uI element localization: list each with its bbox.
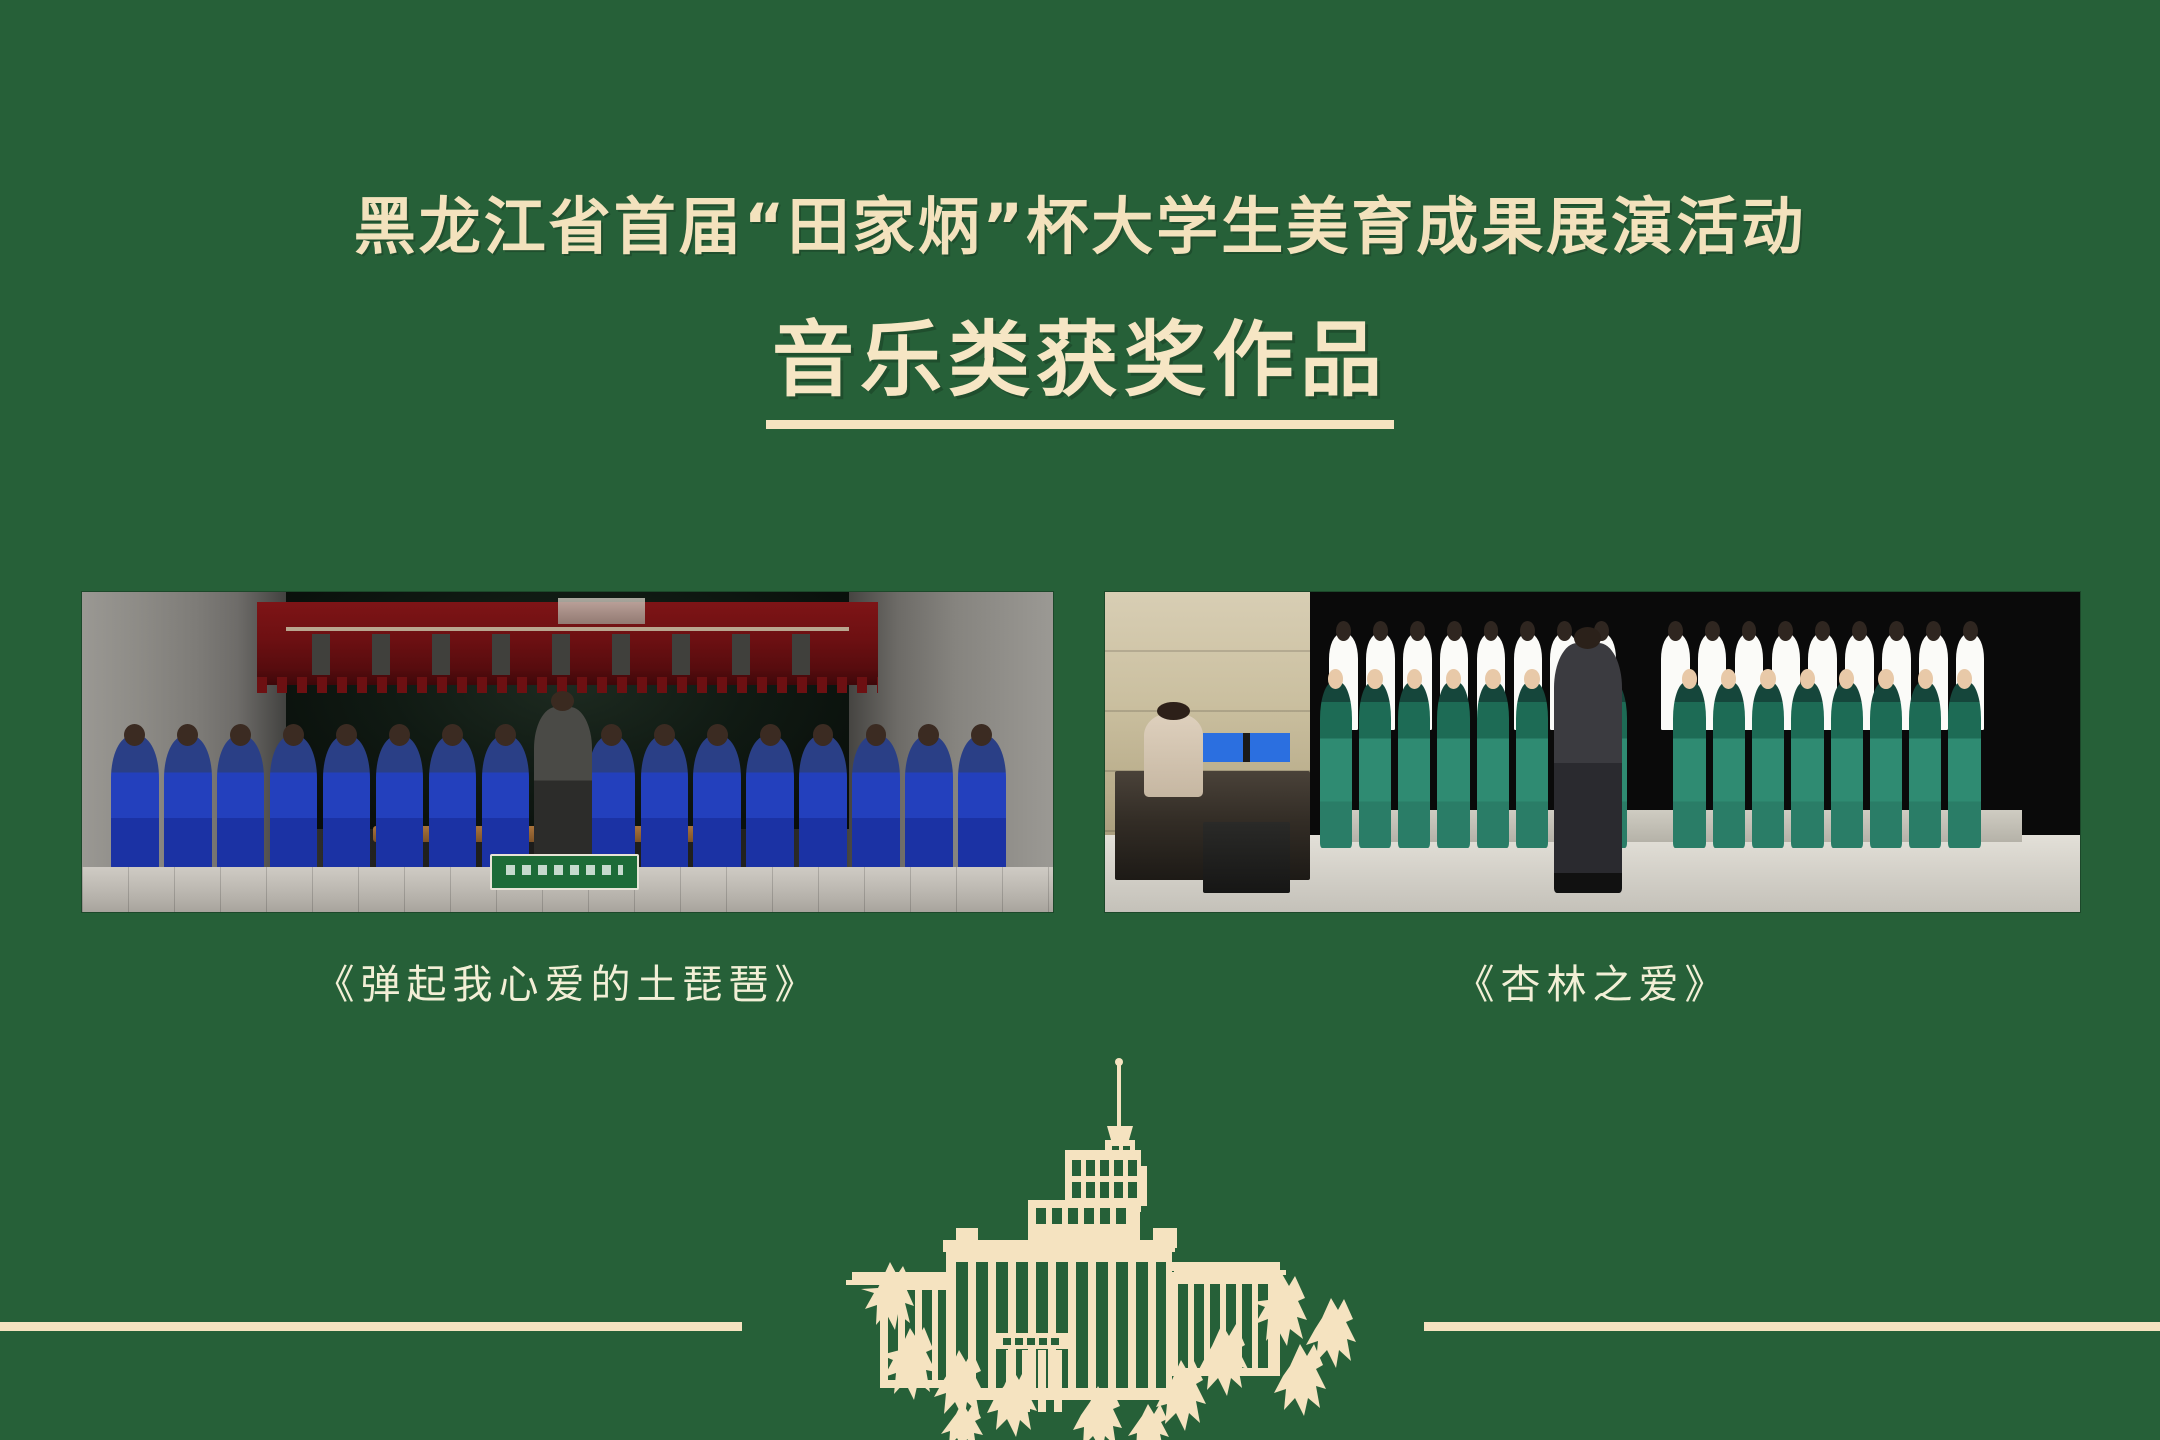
choir-scene: [1105, 592, 2080, 912]
page-subtitle-wrap: 音乐类获奖作品: [0, 318, 2160, 429]
choir-conductor: [1554, 643, 1622, 893]
stage-monitor-speaker: [1203, 822, 1291, 892]
gallery-caption-orchestra: 《弹起我心爱的土琵琶》: [82, 952, 1053, 1010]
gallery-caption-choir: 《杏林之爱》: [1105, 952, 2080, 1010]
campus-main-building-icon: [760, 1050, 1400, 1440]
poster-canvas: 黑龙江省首届“田家炳”杯大学生美育成果展演活动 音乐类获奖作品: [0, 0, 2160, 1440]
orchestra-conductor: [534, 707, 592, 867]
photo-gallery: [0, 592, 2160, 912]
gallery-photo-orchestra[interactable]: [82, 592, 1053, 912]
stage-name-banner: [490, 854, 640, 890]
pianist: [1144, 714, 1203, 797]
lighting-truss: [286, 627, 849, 631]
footer-divider-left: [0, 1322, 742, 1331]
page-subtitle: 音乐类获奖作品: [766, 318, 1394, 429]
stage-top-sign: [558, 598, 645, 624]
music-score-stand: [1203, 733, 1291, 762]
footer-divider-right: [1424, 1322, 2160, 1331]
stage-lamps: [286, 634, 849, 676]
choir-front-row: [1320, 682, 2022, 848]
orchestra-scene: [82, 592, 1053, 912]
gallery-photo-choir[interactable]: [1105, 592, 2080, 912]
page-title: 黑龙江省首届“田家炳”杯大学生美育成果展演活动: [0, 196, 2160, 258]
